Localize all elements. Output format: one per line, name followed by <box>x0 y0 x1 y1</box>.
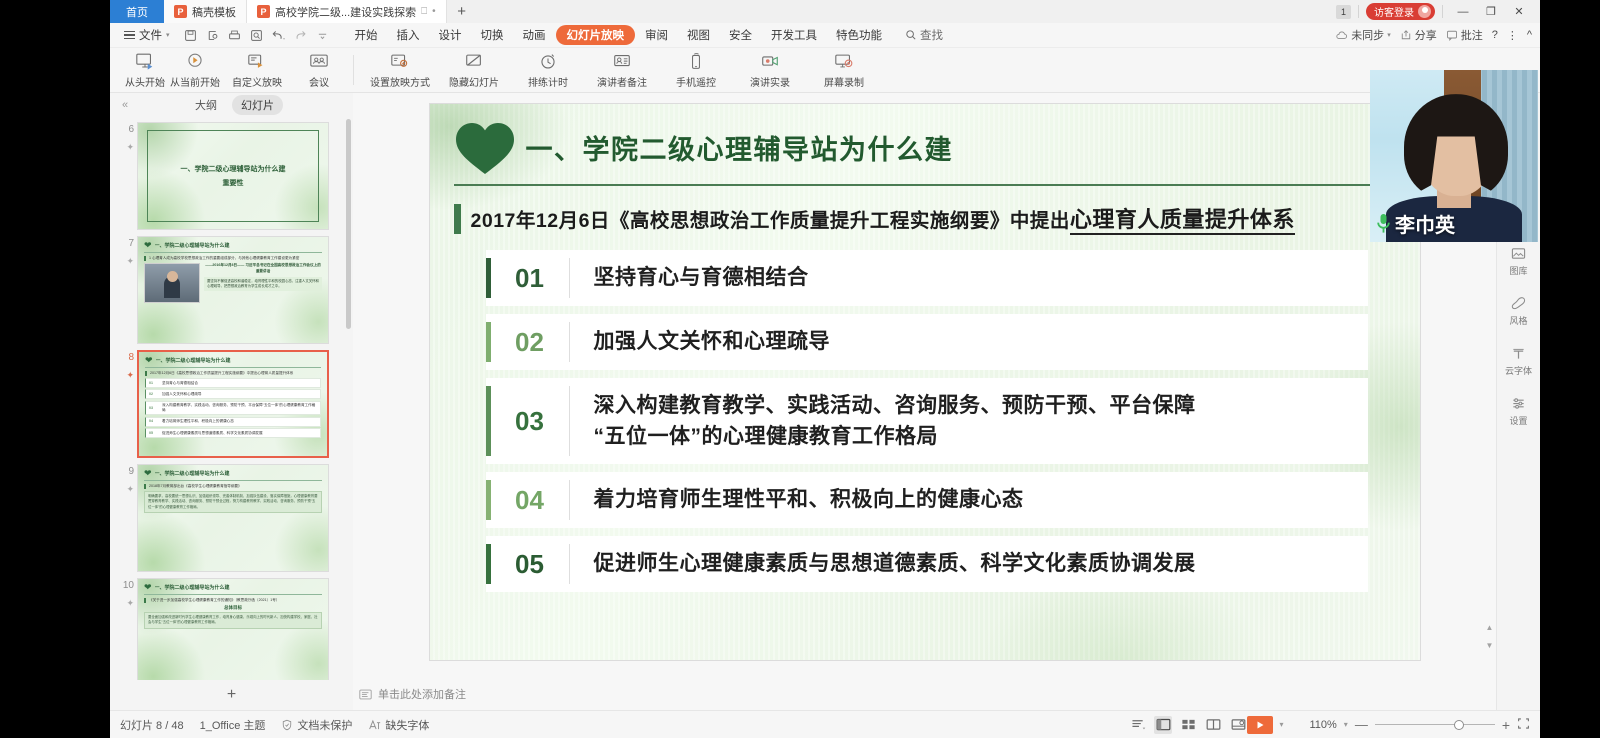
thumbnail-note: 要坚持不懈促进高校和谐稳定，培育理性平和的校园心态，注重人文关怀和心理疏导，把思… <box>204 277 322 291</box>
thumbnail-7[interactable]: ❤ 一、学院二级心理辅导站为什么建 1 心理育人成为高校学校思想政治工作的重要组… <box>137 236 329 344</box>
share-label: 分享 <box>1415 27 1437 43</box>
screen-record-label: 屏幕录制 <box>824 74 864 89</box>
thumbnail-heading-row: ❤ 一、学院二级心理辅导站为什么建 <box>144 469 322 478</box>
missing-font-label: 缺失字体 <box>385 717 429 733</box>
divider <box>144 252 322 253</box>
custom-show-icon <box>247 51 267 72</box>
close-button[interactable]: ✕ <box>1506 2 1532 22</box>
phone-remote-label: 手机遥控 <box>676 74 716 89</box>
slide-content: 一、学院二级心理辅导站为什么建 2017年12月6日《高校思想政治工作质量提升工… <box>430 104 1420 660</box>
animation-icon: ✦ <box>126 256 134 267</box>
item-text: 促进师生心理健康素质与思想道德素质、科学文化素质协调发展 <box>570 548 1210 580</box>
ribbon-group-setup: 设置放映方式 隐藏幻灯片 排练计时 <box>363 51 881 89</box>
ribbon-menu-bar: 文件 ▾ <box>110 23 1540 48</box>
slide-subtitle: 2017年12月6日《高校思想政治工作质量提升工程实施纲要》中提出心理育人质量提… <box>454 202 1396 234</box>
heart-icon <box>454 120 516 176</box>
thumbnail-subtext: 1 心理育人成为高校学校思想政治工作的重要组成部分，与其他心理健康教育工作建设更… <box>144 256 322 261</box>
thumbnail-list-item: 05 促进师生心理健康素质与思想道德素质、科学文化素质协调发展 <box>145 428 321 438</box>
slider-handle[interactable] <box>1454 720 1464 730</box>
minimize-button[interactable]: — <box>1450 2 1476 22</box>
undo-icon[interactable] <box>269 26 288 45</box>
tab-slideshow[interactable]: 幻灯片放映 <box>556 25 636 45</box>
rehearse-timing-button[interactable]: 排练计时 <box>511 51 585 89</box>
setup-show-icon <box>390 51 410 72</box>
thumbnail-index: 10 <box>123 580 134 591</box>
tab-template[interactable]: P 稿壳模板 <box>164 0 247 23</box>
save-icon[interactable] <box>181 26 200 45</box>
guest-login-label: 访客登录 <box>1374 4 1414 19</box>
settings-icon <box>1510 395 1527 412</box>
record-presentation-button[interactable]: 演讲实录 <box>733 51 807 89</box>
file-menu-label: 文件 <box>139 27 162 43</box>
rail-item-style-label: 风格 <box>1509 314 1527 327</box>
item-number: 03 <box>491 406 569 437</box>
animation-icon: ✦ <box>126 142 134 153</box>
cloud-font-icon <box>1510 345 1527 362</box>
share-icon <box>1400 29 1412 41</box>
menubar-right-cluster: 未同步 ▾ 分享 批注 ? ⋮ ^ <box>1335 27 1532 43</box>
phone-remote-button[interactable]: 手机遥控 <box>659 51 733 89</box>
record-presentation-icon <box>760 51 780 72</box>
custom-show-label: 自定义放映 <box>232 74 282 89</box>
window-controls: — ❐ ✕ <box>1450 2 1532 22</box>
play-from-start-icon <box>135 51 155 72</box>
tab-view[interactable]: 视图 <box>678 25 719 45</box>
thumbnail-list-item: 02 加强人文关怀和心理疏导 <box>145 389 321 399</box>
participant-name: 李巾英 <box>1395 209 1455 238</box>
slide-subtitle-plain: 2017年12月6日《高校思想政治工作质量提升工程实施纲要》中提出 <box>471 210 1070 232</box>
print-icon[interactable] <box>225 26 244 45</box>
rail-item-style[interactable]: 风格 <box>1499 295 1539 327</box>
editor-body: « 大纲 幻灯片 6 ✦ <box>110 93 1540 710</box>
tab-start[interactable]: 开始 <box>346 25 387 45</box>
screen-record-button[interactable]: 屏幕录制 <box>807 51 881 89</box>
slide-subtitle-highlight: 心理育人质量提升体系 <box>1070 207 1295 235</box>
thumbnail-subtext: 2017年12月6日《高校思想政治工作质量提升工程实施纲要》中提出心理育人质量提… <box>145 371 321 376</box>
thumbnail-number: 7 ✦ <box>116 236 134 267</box>
screen-record-icon <box>834 51 854 72</box>
thumbnail-content: ❤ 一、学院二级心理辅导站为什么建 2017年12月6日《高校思想政治工作质量提… <box>139 352 327 456</box>
custom-show-button[interactable]: 自定义放映 <box>220 51 294 89</box>
outline-view-icon[interactable] <box>1129 716 1147 734</box>
thumbnail-list[interactable]: 6 ✦ 一、学院二级心理辅导站为什么建 重要性 <box>110 117 353 681</box>
divider <box>144 594 322 595</box>
current-slide[interactable]: 一、学院二级心理辅导站为什么建 2017年12月6日《高校思想政治工作质量提升工… <box>430 104 1420 660</box>
quick-access-toolbar <box>176 26 337 45</box>
page-title: 一、学院二级心理辅导站为什么建 <box>526 128 954 167</box>
comment-label: 批注 <box>1461 27 1483 43</box>
item-text: 坚持育心与育德相结合 <box>162 381 198 386</box>
item-number: 03 <box>149 406 158 411</box>
divider <box>1442 5 1443 18</box>
divider <box>353 55 354 85</box>
maximize-button[interactable]: ❐ <box>1478 2 1504 22</box>
presenter-notes-button[interactable]: 演讲者备注 <box>585 51 659 89</box>
screen-root: 首页 P 稿壳模板 P 高校学院二级...建设实践探索 ⎕ • + 1 访客登录 <box>0 0 1600 738</box>
item-text: 深入构建教育教学、实践活动、咨询服务、预防干预、平台保障“五位一体”的心理健康教… <box>162 403 317 413</box>
normal-view-icon[interactable] <box>1154 716 1172 734</box>
wps-ppt-icon: P <box>174 5 187 18</box>
view-mode-switcher <box>1129 716 1247 734</box>
thumbnail-goal-title: 总体目标 <box>144 605 322 611</box>
add-slide-button[interactable]: + <box>110 680 353 710</box>
item-number: 01 <box>491 263 569 294</box>
notes-pane[interactable]: 单击此处添加备注 <box>353 684 1496 704</box>
collapse-ribbon-button[interactable]: ^ <box>1527 29 1532 41</box>
document-protection-status[interactable]: 文档未保护 <box>281 717 352 733</box>
slide-item-02[interactable]: 02 加强人文关怀和心理疏导 <box>486 314 1368 370</box>
meeting-icon <box>309 51 329 72</box>
thumbnail-8[interactable]: ❤ 一、学院二级心理辅导站为什么建 2017年12月6日《高校思想政治工作质量提… <box>137 350 329 458</box>
thumbnail-heading-row: ❤ 一、学院二级心理辅导站为什么建 <box>145 356 321 365</box>
print-preview-icon[interactable] <box>203 26 222 45</box>
thumbnail-6[interactable]: 一、学院二级心理辅导站为什么建 重要性 <box>137 122 329 230</box>
cloud-sync-icon <box>1335 30 1348 41</box>
thumbnail-photo <box>144 263 200 303</box>
thumbnail-right-column: ——2016年12月8日—— 习近平总书记在全国高校思想政治工作会议上的重要讲话… <box>204 263 322 291</box>
tab-home[interactable]: 首页 <box>110 0 164 23</box>
thumbnail-number: 10 ✦ <box>116 578 134 609</box>
item-text: 深入构建教育教学、实践活动、咨询服务、预防干预、平台保障 “五位一体”的心理健康… <box>570 390 1210 453</box>
share-button[interactable]: 分享 <box>1400 27 1437 43</box>
tab-insert[interactable]: 插入 <box>388 25 429 45</box>
chevron-down-icon: ▾ <box>166 31 170 39</box>
tab-review[interactable]: 审阅 <box>636 25 677 45</box>
hide-slide-label: 隐藏幻灯片 <box>449 74 499 89</box>
item-text: 坚持育心与育德相结合 <box>570 262 823 294</box>
notes-view-icon[interactable] <box>1229 716 1247 734</box>
tab-outline[interactable]: 大纲 <box>186 95 226 115</box>
item-text: 着力培育师生理性平和、积极向上的健康心态 <box>162 419 234 424</box>
slide-header: 一、学院二级心理辅导站为什么建 <box>454 118 1396 176</box>
new-tab-button[interactable]: + <box>447 0 477 23</box>
dot-icon[interactable]: • <box>432 6 436 17</box>
rehearse-timing-icon <box>538 51 558 72</box>
rail-item-cloud-font-label: 云字体 <box>1505 364 1532 377</box>
item-number: 05 <box>149 431 158 436</box>
list-item[interactable]: 6 ✦ 一、学院二级心理辅导站为什么建 重要性 <box>110 119 353 233</box>
divider <box>144 480 322 481</box>
list-item[interactable]: 7 ✦ ❤ 一、学院二级心理辅导站为什么建 1 心理育 <box>110 233 353 347</box>
thumbnail-list-item: 04 着力培育师生理性平和、积极向上的健康心态 <box>145 417 321 427</box>
meeting-button[interactable]: 会议 <box>294 51 344 89</box>
thumbnail-number: 8 ✦ <box>116 350 134 381</box>
hamburger-icon <box>124 29 135 42</box>
list-item-selected[interactable]: 8 ✦ ❤ 一、学院二级心理辅导站为什么建 2017年 <box>110 347 353 461</box>
chevron-down-icon[interactable]: ▾ <box>1344 720 1348 729</box>
participant-name-overlay: 李巾英 <box>1376 209 1455 238</box>
thumbnail-quote: ——2016年12月8日—— 习近平总书记在全国高校思想政治工作会议上的重要讲话 <box>204 263 322 275</box>
comment-bubble-icon[interactable]: ⎕ <box>421 6 427 17</box>
zoom-in-button[interactable]: + <box>1502 717 1510 733</box>
play-from-current-icon <box>185 51 205 72</box>
panel-view-tabs: 大纲 幻灯片 <box>186 95 283 115</box>
heart-icon: ❤ <box>145 356 153 365</box>
search-button[interactable]: 查找 <box>905 27 943 43</box>
presenter-notes-label: 演讲者备注 <box>597 74 647 89</box>
thumbnail-index: 7 <box>128 238 134 249</box>
divider <box>145 367 321 368</box>
tabstrip-spacer <box>477 0 1336 23</box>
title-underline <box>454 184 1396 186</box>
panel-header: « 大纲 幻灯片 <box>110 93 353 117</box>
thumbnail-columns: ——2016年12月8日—— 习近平总书记在全国高校思想政治工作会议上的重要讲话… <box>144 263 322 303</box>
reading-view-icon[interactable] <box>1204 716 1222 734</box>
rail-item-picture[interactable]: 图库 <box>1499 245 1539 277</box>
start-slideshow-button[interactable] <box>1247 716 1273 734</box>
hide-slide-icon <box>464 51 484 72</box>
tab-active-document-label: 高校学院二级...建设实践探索 <box>275 4 416 20</box>
comment-icon <box>1446 29 1458 41</box>
phone-remote-icon <box>686 51 706 72</box>
thumbnail-heading: 一、学院二级心理辅导站为什么建 <box>155 584 230 591</box>
microphone-icon <box>1376 213 1391 235</box>
animation-icon: ✦ <box>126 484 134 495</box>
zoom-slider[interactable] <box>1375 719 1495 731</box>
shield-icon <box>281 719 293 731</box>
document-tab-strip: 首页 P 稿壳模板 P 高校学院二级...建设实践探索 ⎕ • + 1 访客登录 <box>110 0 1540 23</box>
status-bar: 幻灯片 8 / 48 1_Office 主题 文档未保护 缺失字体 <box>110 710 1540 738</box>
thumbnail-index: 6 <box>128 124 134 135</box>
tab-animations[interactable]: 动画 <box>514 25 555 45</box>
tab-template-label: 稿壳模板 <box>192 4 236 20</box>
wps-ppt-icon: P <box>257 5 270 18</box>
hide-slide-button[interactable]: 隐藏幻灯片 <box>437 51 511 89</box>
setup-show-label: 设置放映方式 <box>370 74 430 89</box>
thumbnail-subtext: 2018年7月教育部出台《高校学生心理健康教育指导纲要》 <box>144 484 322 489</box>
slider-track <box>1375 724 1495 725</box>
thumbnail-heading: 一、学院二级心理辅导站为什么建 <box>155 470 230 477</box>
animation-icon: ✦ <box>126 598 134 609</box>
tabstrip-right-cluster: 1 访客登录 — ❐ ✕ <box>1336 0 1540 23</box>
thumbnail-subtext: 《关于进一步加强高校学生心理健康教育工作的通知》（教思政厅函〔2021〕1号） <box>144 598 322 603</box>
notes-placeholder: 单击此处添加备注 <box>378 686 466 702</box>
zoom-level-label[interactable]: 110% <box>1309 719 1336 731</box>
slide-stage: 一、学院二级心理辅导站为什么建 2017年12月6日《高校思想政治工作质量提升工… <box>353 93 1496 710</box>
zoom-controls: 110% ▾ — + <box>1309 717 1530 733</box>
thumbnail-subtitle: 重要性 <box>223 178 244 188</box>
tab-home-label: 首页 <box>126 4 148 20</box>
zoom-out-button[interactable]: — <box>1355 717 1368 732</box>
guest-login-button[interactable]: 访客登录 <box>1366 3 1435 20</box>
slide-item-list: 01 坚持育心与育德相结合 02 加强人文关怀和心理疏导 <box>454 250 1396 592</box>
thumbnail-index: 9 <box>128 466 134 477</box>
search-icon <box>905 29 917 41</box>
rehearse-timing-label: 排练计时 <box>528 74 568 89</box>
missing-font-status[interactable]: 缺失字体 <box>368 717 429 733</box>
item-number: 04 <box>149 419 158 424</box>
record-presentation-label: 演讲实录 <box>750 74 790 89</box>
more-options-button[interactable]: ⋮ <box>1507 29 1518 42</box>
ribbon-group-start: 从头开始 从当前开始 自定义放映 <box>120 51 344 89</box>
collapse-left-icon[interactable]: « <box>116 99 134 111</box>
thumbnail-item-list: 01 坚持育心与育德相结合 02 加强人文关怀和心理疏导 03 <box>145 378 321 438</box>
presenter-notes-icon <box>612 51 632 72</box>
list-item[interactable]: 9 ✦ ❤ 一、学院二级心理辅导站为什么建 2018年 <box>110 461 353 575</box>
item-number: 02 <box>491 327 569 358</box>
item-text: 加强人文关怀和心理疏导 <box>570 326 845 358</box>
avatar <box>1418 5 1431 18</box>
style-icon <box>1510 295 1527 312</box>
meeting-label: 会议 <box>309 74 329 89</box>
tab-slides[interactable]: 幻灯片 <box>232 95 283 115</box>
thumbnail-scrollbar[interactable] <box>346 119 351 329</box>
sync-status-button[interactable]: 未同步 ▾ <box>1335 27 1391 43</box>
thumbnail-box-text: 要全面加强和改进新时代学生心理健康教育工作，培育身心健康、乐观向上的时代新人，加… <box>144 612 322 629</box>
scroll-up-button[interactable]: ▲ <box>1485 623 1494 632</box>
slide-counter[interactable]: 幻灯片 8 / 48 <box>120 717 184 733</box>
slide-item-03[interactable]: 03 深入构建教育教学、实践活动、咨询服务、预防干预、平台保障 “五位一体”的心… <box>486 378 1368 464</box>
animation-icon: ✦ <box>126 370 134 381</box>
thumbnail-content: ❤ 一、学院二级心理辅导站为什么建 2018年7月教育部出台《高校学生心理健康教… <box>138 465 328 571</box>
wps-window: 首页 P 稿壳模板 P 高校学院二级...建设实践探索 ⎕ • + 1 访客登录 <box>110 0 1540 738</box>
thumbnail-number: 6 ✦ <box>116 122 134 153</box>
heart-icon: ❤ <box>144 241 152 250</box>
item-text: 着力培育师生理性平和、积极向上的健康心态 <box>570 484 1038 516</box>
item-number: 02 <box>149 392 158 397</box>
accent-bar <box>454 204 461 234</box>
thumbnail-title: 一、学院二级心理辅导站为什么建 <box>181 164 286 174</box>
thumbnail-content: ❤ 一、学院二级心理辅导站为什么建 《关于进一步加强高校学生心理健康教育工作的通… <box>138 579 328 681</box>
item-text: 加强人文关怀和心理疏导 <box>162 392 202 397</box>
thumbnail-box-text: 明确要求，高校要统一思想认识、加强组织领导、完善体制机制、加强队伍建设、落实保障… <box>144 491 322 513</box>
theme-name[interactable]: 1_Office 主题 <box>200 717 266 733</box>
file-menu-button[interactable]: 文件 ▾ <box>118 27 176 43</box>
slide-item-01[interactable]: 01 坚持育心与育德相结合 <box>486 250 1368 306</box>
play-from-current-label: 从当前开始 <box>170 74 220 89</box>
divider <box>1358 5 1359 18</box>
sync-status-label: 未同步 <box>1351 27 1384 43</box>
item-number: 05 <box>491 549 569 580</box>
comment-button[interactable]: 批注 <box>1446 27 1483 43</box>
thumbnail-number: 9 ✦ <box>116 464 134 495</box>
redo-icon[interactable] <box>291 26 310 45</box>
slide-item-04[interactable]: 04 着力培育师生理性平和、积极向上的健康心态 <box>486 472 1368 528</box>
rail-item-settings-label: 设置 <box>1509 414 1527 427</box>
thumbnail-heading: 一、学院二级心理辅导站为什么建 <box>155 242 230 249</box>
fit-to-window-icon[interactable] <box>1517 717 1530 733</box>
slide-thumbnail-panel: « 大纲 幻灯片 6 ✦ <box>110 93 353 710</box>
tab-special-features[interactable]: 特色功能 <box>827 25 891 45</box>
thumbnail-list-item: 01 坚持育心与育德相结合 <box>145 378 321 388</box>
customize-qat-icon[interactable] <box>313 26 332 45</box>
participant-video-overlay[interactable]: 李巾英 <box>1370 70 1538 242</box>
play-from-current-button[interactable]: 从当前开始 <box>170 51 220 89</box>
rail-item-picture-label: 图库 <box>1509 264 1527 277</box>
thumbnail-heading: 一、学院二级心理辅导站为什么建 <box>156 357 231 364</box>
slide-subtitle-text: 2017年12月6日《高校思想政治工作质量提升工程实施纲要》中提出心理育人质量提… <box>471 202 1295 234</box>
font-icon <box>368 719 381 731</box>
find-icon[interactable] <box>247 26 266 45</box>
tab-design[interactable]: 设计 <box>430 25 471 45</box>
thumbnail-10[interactable]: ❤ 一、学院二级心理辅导站为什么建 《关于进一步加强高校学生心理健康教育工作的通… <box>137 578 329 681</box>
notification-count-badge[interactable]: 1 <box>1336 5 1351 19</box>
play-from-start-button[interactable]: 从头开始 <box>120 51 170 89</box>
thumbnail-index: 8 <box>128 352 134 363</box>
heart-icon: ❤ <box>144 583 152 592</box>
setup-show-button[interactable]: 设置放映方式 <box>363 51 437 89</box>
search-label: 查找 <box>920 27 943 43</box>
thumbnail-content: ❤ 一、学院二级心理辅导站为什么建 1 心理育人成为高校学校思想政治工作的重要组… <box>138 237 328 343</box>
thumbnail-content: 一、学院二级心理辅导站为什么建 重要性 <box>138 123 328 229</box>
play-options-caret[interactable]: ▾ <box>1279 720 1283 729</box>
notes-icon <box>359 689 372 700</box>
picture-icon <box>1510 245 1527 262</box>
rail-item-cloud-font[interactable]: 云字体 <box>1499 345 1539 377</box>
item-text: 促进师生心理健康素质与思想道德素质、科学文化素质协调发展 <box>162 431 263 436</box>
thumbnail-9[interactable]: ❤ 一、学院二级心理辅导站为什么建 2018年7月教育部出台《高校学生心理健康教… <box>137 464 329 572</box>
play-from-start-label: 从头开始 <box>125 74 165 89</box>
tab-security[interactable]: 安全 <box>720 25 761 45</box>
slide-sorter-icon[interactable] <box>1179 716 1197 734</box>
thumbnail-heading-row: ❤ 一、学院二级心理辅导站为什么建 <box>144 583 322 592</box>
heart-icon: ❤ <box>144 469 152 478</box>
tab-developer-tools[interactable]: 开发工具 <box>762 25 826 45</box>
item-number: 01 <box>149 381 158 386</box>
help-button[interactable]: ? <box>1492 29 1498 41</box>
slideshow-ribbon: 从头开始 从当前开始 自定义放映 <box>110 48 1540 93</box>
list-item[interactable]: 10 ✦ ❤ 一、学院二级心理辅导站为什么建 《关于进 <box>110 575 353 681</box>
play-icon <box>1255 720 1265 730</box>
slide-item-05[interactable]: 05 促进师生心理健康素质与思想道德素质、科学文化素质协调发展 <box>486 536 1368 592</box>
rail-item-settings[interactable]: 设置 <box>1499 395 1539 427</box>
thumbnail-heading-row: ❤ 一、学院二级心理辅导站为什么建 <box>144 241 322 250</box>
scroll-down-button[interactable]: ▼ <box>1485 641 1494 650</box>
thumbnail-list-item: 03 深入构建教育教学、实践活动、咨询服务、预防干预、平台保障“五位一体”的心理… <box>145 401 321 416</box>
chevron-down-icon: ▾ <box>1387 31 1391 39</box>
ribbon-tabs: 开始 插入 设计 切换 动画 幻灯片放映 审阅 视图 安全 开发工具 特色功能 <box>346 25 892 45</box>
tab-active-document[interactable]: P 高校学院二级...建设实践探索 ⎕ • <box>247 0 447 23</box>
tab-transitions[interactable]: 切换 <box>472 25 513 45</box>
document-protection-label: 文档未保护 <box>297 717 352 733</box>
item-number: 04 <box>491 485 569 516</box>
